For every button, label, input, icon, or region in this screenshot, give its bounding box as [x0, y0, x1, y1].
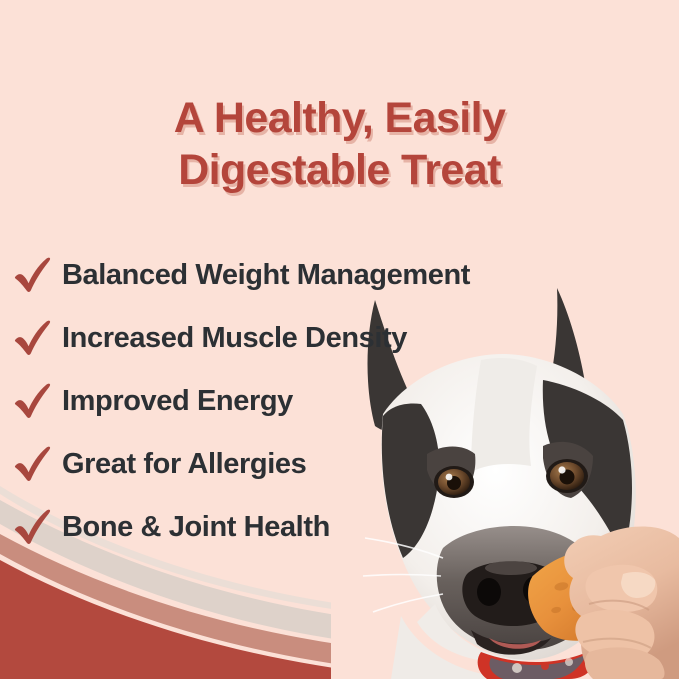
- checkmark-icon: [0, 381, 62, 421]
- checkmark-icon: [0, 507, 62, 547]
- collar-dot-1: [512, 663, 522, 673]
- benefit-label: Balanced Weight Management: [62, 259, 470, 291]
- dog-left-nostril: [477, 578, 501, 606]
- benefits-list: Balanced Weight Management Increased Mus…: [0, 243, 679, 558]
- benefit-label: Improved Energy: [62, 385, 293, 417]
- checkmark-icon: [0, 444, 62, 484]
- collar-dot-3: [565, 658, 573, 666]
- promo-poster: A Healthy, Easily Digestable Treat Balan…: [0, 0, 679, 679]
- benefit-label: Increased Muscle Density: [62, 322, 407, 354]
- list-item: Increased Muscle Density: [0, 306, 679, 369]
- benefit-label: Great for Allergies: [62, 448, 306, 480]
- list-item: Improved Energy: [0, 369, 679, 432]
- collar-dot-2: [541, 662, 549, 670]
- checkmark-icon: [0, 318, 62, 358]
- checkmark-icon: [0, 255, 62, 295]
- list-item: Great for Allergies: [0, 432, 679, 495]
- benefit-label: Bone & Joint Health: [62, 511, 330, 543]
- list-item: Balanced Weight Management: [0, 243, 679, 306]
- list-item: Bone & Joint Health: [0, 495, 679, 558]
- dog-nose-highlight: [485, 561, 537, 575]
